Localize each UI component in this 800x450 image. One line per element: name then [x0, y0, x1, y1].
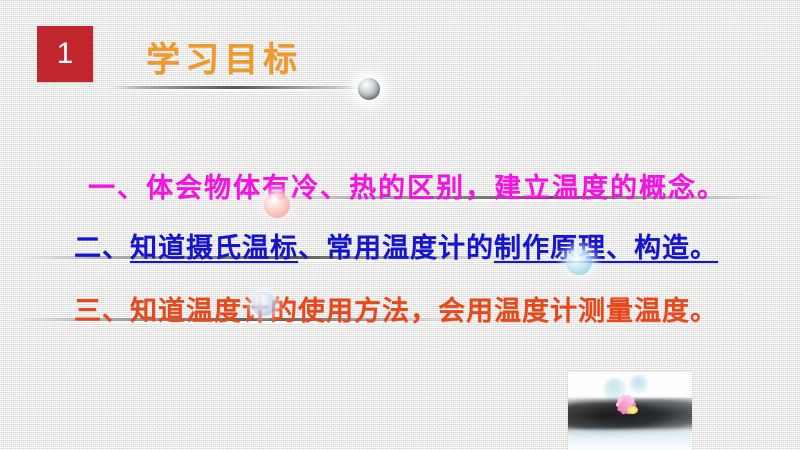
objective-2-underline-a: 知道摄氏温标: [130, 233, 298, 264]
objective-2-underline-b: 制作原理、构造。: [494, 233, 718, 264]
objective-line-2: 二、知道摄氏温标、常用温度计的制作原理、构造。: [74, 226, 718, 265]
photo-water-band: [568, 430, 692, 450]
objective-2-prefix: 二、: [74, 233, 130, 264]
lotus-center: [627, 406, 638, 414]
title-divider: [112, 86, 368, 89]
objective-line-1: 一、体会物体有冷、热的区别，建立温度的概念。: [88, 166, 726, 205]
objective-2-middle: 、常用温度计的: [298, 233, 494, 264]
slide-canvas: 1 学习目标 一、体会物体有冷、热的区别，建立温度的概念。 二、知道摄氏温标、常…: [0, 0, 800, 450]
objective-line-3: 三、知道温度计的使用方法，会用温度计测量温度。: [74, 289, 718, 328]
sphere-orb-icon: [358, 78, 380, 100]
section-number-label: 1: [57, 39, 74, 69]
lotus-bloom-icon: [606, 390, 660, 430]
page-title: 学习目标: [146, 32, 302, 81]
section-number-badge: 1: [37, 26, 93, 82]
lotus-flower-photo: [568, 372, 692, 450]
